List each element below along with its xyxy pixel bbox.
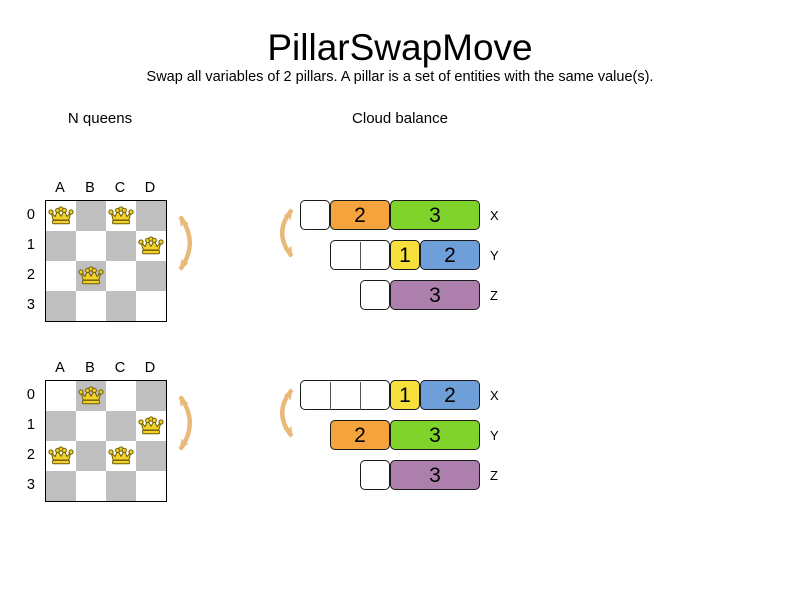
cloud-process-y-3[interactable]: 3 xyxy=(390,420,480,450)
cloud-computer-row-z: 3Z xyxy=(300,460,480,490)
board-cell-B1[interactable] xyxy=(76,411,106,441)
cloud-capacity-slot-z-0 xyxy=(360,280,390,310)
section-heading-n-queens: N queens xyxy=(40,110,160,127)
board-row-label-1: 1 xyxy=(17,417,35,433)
cloud-swap-arrow-bottom xyxy=(270,378,304,448)
board-cell-C0[interactable] xyxy=(106,381,136,411)
board-row-label-2: 2 xyxy=(17,447,35,463)
chessboard-after: ABCD0123 xyxy=(25,355,185,505)
board-cell-C1[interactable] xyxy=(106,231,136,261)
cloud-process-x-2[interactable]: 2 xyxy=(330,200,390,230)
board-cell-C2[interactable] xyxy=(106,441,136,471)
cloud-computer-label-x: X xyxy=(490,208,499,223)
cloud-capacity-slot-y-0 xyxy=(330,240,390,270)
cloud-computer-label-z: Z xyxy=(490,468,498,483)
board-cell-B3[interactable] xyxy=(76,291,106,321)
cloud-computer-row-z: 3Z xyxy=(300,280,480,310)
board-cell-B3[interactable] xyxy=(76,471,106,501)
cloud-capacity-slot-x-0 xyxy=(300,380,390,410)
board-cell-D2[interactable] xyxy=(136,261,166,291)
board-cell-C2[interactable] xyxy=(106,261,136,291)
board-cell-D2[interactable] xyxy=(136,441,166,471)
cloud-process-z-3[interactable]: 3 xyxy=(390,280,480,310)
cloud-process-y-2[interactable]: 2 xyxy=(420,240,480,270)
board-cell-A3[interactable] xyxy=(46,471,76,501)
board-row-label-1: 1 xyxy=(17,237,35,253)
cloud-computer-row-y: 12Y xyxy=(300,240,480,270)
board-cell-D3[interactable] xyxy=(136,291,166,321)
cloud-computer-label-y: Y xyxy=(490,428,499,443)
board-cell-B1[interactable] xyxy=(76,231,106,261)
cloud-process-y-1[interactable]: 1 xyxy=(390,240,420,270)
board-cell-D3[interactable] xyxy=(136,471,166,501)
cloud-balance-group-before: 23X12Y3Z xyxy=(300,200,500,310)
board-cell-D0[interactable] xyxy=(136,381,166,411)
board-cell-C1[interactable] xyxy=(106,411,136,441)
board-cell-A3[interactable] xyxy=(46,291,76,321)
board-cell-C0[interactable] xyxy=(106,201,136,231)
nqueens-swap-arrow-top xyxy=(168,203,202,283)
board-cell-B2[interactable] xyxy=(76,261,106,291)
board-column-label-d: D xyxy=(135,180,165,196)
cloud-computer-row-y: 23Y xyxy=(300,420,480,450)
board-cell-A1[interactable] xyxy=(46,411,76,441)
board-cell-C3[interactable] xyxy=(106,291,136,321)
chessboard-grid-before xyxy=(45,200,167,322)
capacity-slot-divider xyxy=(360,242,361,270)
board-column-label-b: B xyxy=(75,180,105,196)
cloud-process-y-2[interactable]: 2 xyxy=(330,420,390,450)
cloud-process-z-3[interactable]: 3 xyxy=(390,460,480,490)
page-title: PillarSwapMove xyxy=(0,26,800,70)
board-row-label-3: 3 xyxy=(17,477,35,493)
cloud-process-x-2[interactable]: 2 xyxy=(420,380,480,410)
chessboard-grid-after xyxy=(45,380,167,502)
cloud-swap-arrow-top xyxy=(270,198,304,268)
board-cell-C3[interactable] xyxy=(106,471,136,501)
board-cell-B0[interactable] xyxy=(76,201,106,231)
board-cell-A0[interactable] xyxy=(46,201,76,231)
board-cell-D0[interactable] xyxy=(136,201,166,231)
cloud-capacity-slot-x-0 xyxy=(300,200,330,230)
board-column-label-a: A xyxy=(45,360,75,376)
cloud-computer-label-x: X xyxy=(490,388,499,403)
board-column-label-c: C xyxy=(105,180,135,196)
board-cell-D1[interactable] xyxy=(136,231,166,261)
chessboard-before: ABCD0123 xyxy=(25,175,185,325)
board-cell-A2[interactable] xyxy=(46,261,76,291)
board-row-label-0: 0 xyxy=(17,207,35,223)
board-cell-B0[interactable] xyxy=(76,381,106,411)
cloud-balance-group-after: 12X23Y3Z xyxy=(300,380,500,490)
board-cell-A1[interactable] xyxy=(46,231,76,261)
cloud-computer-row-x: 23X xyxy=(300,200,480,230)
nqueens-swap-arrow-bottom xyxy=(168,383,202,463)
board-column-label-b: B xyxy=(75,360,105,376)
page-subtitle: Swap all variables of 2 pillars. A pilla… xyxy=(0,68,800,86)
cloud-process-x-3[interactable]: 3 xyxy=(390,200,480,230)
board-row-label-3: 3 xyxy=(17,297,35,313)
board-cell-B2[interactable] xyxy=(76,441,106,471)
board-column-label-a: A xyxy=(45,180,75,196)
board-row-label-0: 0 xyxy=(17,387,35,403)
board-cell-D1[interactable] xyxy=(136,411,166,441)
capacity-slot-divider xyxy=(360,382,361,410)
section-heading-cloud-balance: Cloud balance xyxy=(340,110,460,127)
cloud-computer-label-z: Z xyxy=(490,288,498,303)
board-column-label-d: D xyxy=(135,360,165,376)
board-cell-A2[interactable] xyxy=(46,441,76,471)
cloud-process-x-1[interactable]: 1 xyxy=(390,380,420,410)
cloud-computer-label-y: Y xyxy=(490,248,499,263)
board-column-label-c: C xyxy=(105,360,135,376)
board-row-label-2: 2 xyxy=(17,267,35,283)
capacity-slot-divider xyxy=(330,382,331,410)
cloud-capacity-slot-z-0 xyxy=(360,460,390,490)
board-cell-A0[interactable] xyxy=(46,381,76,411)
cloud-computer-row-x: 12X xyxy=(300,380,480,410)
